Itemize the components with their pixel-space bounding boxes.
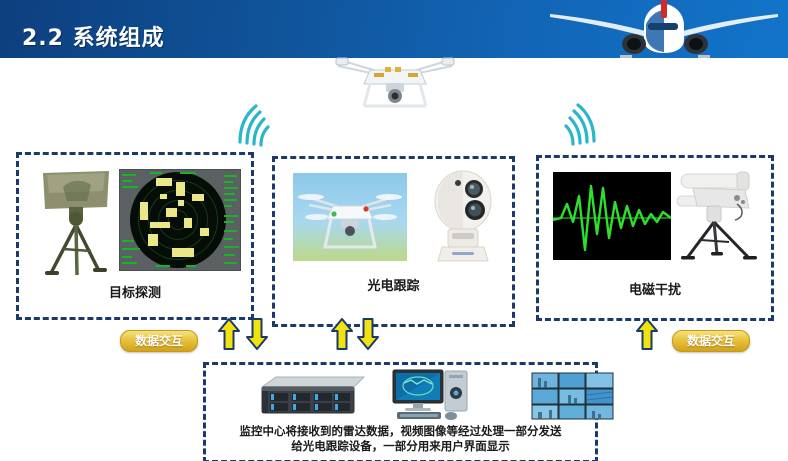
monitoring-center-description: 监控中心将接收到的雷达数据，视频图像等经过处理一部分发送 给光电跟踪设备，一部分…: [210, 424, 591, 454]
center-text-line-2: 给光电跟踪设备，一部分用来用户界面显示: [210, 439, 591, 454]
arrow-up-left-icon: [218, 318, 240, 350]
panel-electromagnetic-jamming: 电磁干扰: [536, 155, 774, 321]
panel-target-detection: 目标探测: [16, 152, 254, 320]
jammer-gun-icon: [671, 168, 767, 264]
drone-photo-icon: [293, 173, 407, 261]
arrow-up-middle-icon: [331, 318, 353, 350]
panel-label-target-detection: 目标探测: [19, 282, 251, 301]
arrow-down-middle-icon: [357, 318, 379, 350]
eo-turret-camera-icon: [430, 169, 496, 265]
panel-label-electromagnetic-jamming: 电磁干扰: [539, 279, 771, 298]
video-wall-icon: [528, 367, 618, 422]
server-rack-icon: [258, 373, 368, 417]
quadcopter-drone-icon: [330, 50, 460, 112]
center-text-line-1: 监控中心将接收到的雷达数据，视频图像等经过处理一部分发送: [210, 424, 591, 439]
wifi-signal-icon: [558, 101, 602, 147]
badge-data-exchange-right[interactable]: 数据交互: [672, 330, 750, 352]
panel-monitoring-center: 监控中心将接收到的雷达数据，视频图像等经过处理一部分发送 给光电跟踪设备，一部分…: [203, 362, 598, 461]
badge-data-exchange-left[interactable]: 数据交互: [120, 330, 198, 352]
desktop-computer-icon: [391, 367, 471, 422]
arrow-up-right-icon: [636, 318, 658, 350]
waveform-screen-icon: [553, 172, 671, 260]
arrow-down-left-icon: [246, 318, 268, 350]
panel-electro-optical-tracking: 光电跟踪: [272, 156, 515, 327]
wifi-signal-icon: [232, 102, 276, 148]
radar-tripod-icon: [37, 167, 115, 279]
airplane-icon: [546, 0, 782, 58]
panel-label-electro-optical-tracking: 光电跟踪: [275, 275, 512, 294]
page-title: 2.2 系统组成: [22, 20, 165, 52]
radar-screen-icon: [119, 169, 241, 271]
slide-canvas: 2.2 系统组成: [0, 0, 788, 461]
